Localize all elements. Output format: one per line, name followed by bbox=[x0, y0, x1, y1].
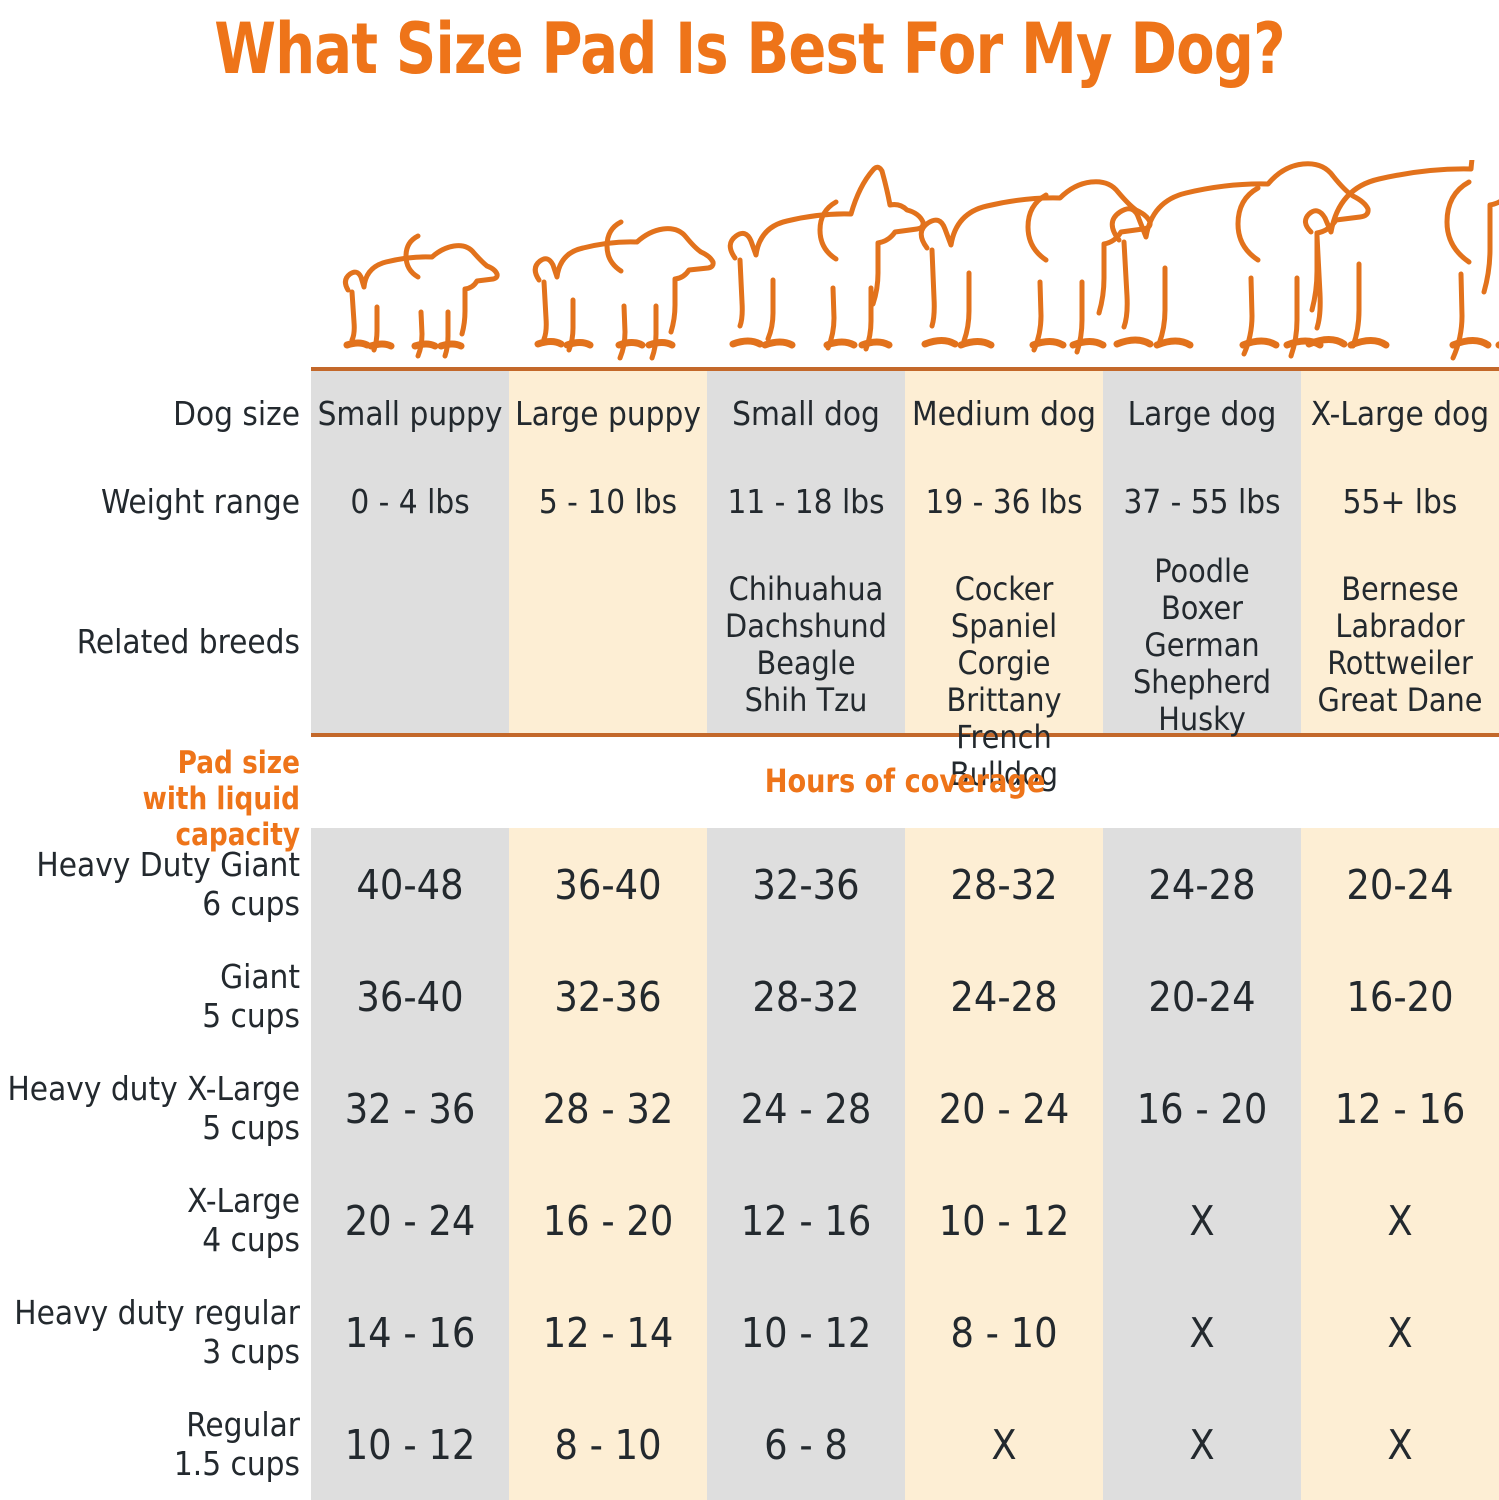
coverage-cell-heavy-duty-giant-large-puppy: 36-40 bbox=[509, 861, 707, 909]
column-band-lower-large-puppy bbox=[509, 828, 707, 1500]
coverage-cell-x-large-large-dog: X bbox=[1103, 1197, 1301, 1245]
pad-row-label-giant: Giant5 cups bbox=[0, 957, 300, 1035]
coverage-cell-regular-large-puppy: 8 - 10 bbox=[509, 1421, 707, 1469]
breed-name: Great Dane bbox=[1301, 682, 1499, 719]
coverage-cell-giant-medium-dog: 24-28 bbox=[905, 973, 1103, 1021]
pad-row-name: Giant bbox=[0, 957, 300, 996]
coverage-cell-heavy-duty-x-large-large-dog: 16 - 20 bbox=[1103, 1085, 1301, 1133]
breed-name: Poodle bbox=[1103, 553, 1301, 590]
pad-row-capacity: 1.5 cups bbox=[0, 1444, 300, 1483]
breed-name: Shih Tzu bbox=[707, 682, 905, 719]
coverage-cell-regular-medium-dog: X bbox=[905, 1421, 1103, 1469]
large-puppy-icon bbox=[535, 222, 713, 358]
breed-name: Cocker Spaniel bbox=[905, 571, 1103, 645]
column-band-lower-small-dog bbox=[707, 828, 905, 1500]
dog-size-cell-large-puppy: Large puppy bbox=[509, 394, 707, 433]
pad-row-label-heavy-duty-regular: Heavy duty regular3 cups bbox=[0, 1293, 300, 1371]
row-label-dog-size: Dog size bbox=[0, 394, 300, 433]
dog-size-cell-x-large-dog: X-Large dog bbox=[1301, 394, 1499, 433]
small-puppy-icon bbox=[345, 236, 497, 356]
pad-row-name: Regular bbox=[0, 1405, 300, 1444]
breeds-cell-x-large-dog: BerneseLabradorRottweilerGreat Dane bbox=[1301, 571, 1499, 719]
coverage-cell-x-large-large-puppy: 16 - 20 bbox=[509, 1197, 707, 1245]
column-band-lower-large-dog bbox=[1103, 828, 1301, 1500]
breed-name: Shepherd bbox=[1103, 664, 1301, 701]
column-band-lower-x-large-dog bbox=[1301, 828, 1499, 1500]
column-band-lower-small-puppy bbox=[311, 828, 509, 1500]
breeds-cell-medium-dog: Cocker SpanielCorgieBrittanyFrench Bulld… bbox=[905, 571, 1103, 793]
dog-size-cell-small-dog: Small dog bbox=[707, 394, 905, 433]
dog-size-cell-medium-dog: Medium dog bbox=[905, 394, 1103, 433]
hours-of-coverage-heading: Hours of coverage bbox=[400, 762, 1410, 800]
breed-name: Labrador bbox=[1301, 608, 1499, 645]
weight-range-cell-x-large-dog: 55+ lbs bbox=[1301, 482, 1499, 521]
weight-range-cell-medium-dog: 19 - 36 lbs bbox=[905, 482, 1103, 521]
row-label-weight-range: Weight range bbox=[0, 482, 300, 521]
pad-row-capacity: 5 cups bbox=[0, 996, 300, 1035]
coverage-cell-regular-small-puppy: 10 - 12 bbox=[311, 1421, 509, 1469]
breeds-cell-small-dog: ChihuahuaDachshundBeagleShih Tzu bbox=[707, 571, 905, 719]
pad-row-capacity: 3 cups bbox=[0, 1332, 300, 1371]
breed-name: Dachshund bbox=[707, 608, 905, 645]
coverage-cell-x-large-small-puppy: 20 - 24 bbox=[311, 1197, 509, 1245]
coverage-cell-heavy-duty-x-large-small-puppy: 32 - 36 bbox=[311, 1085, 509, 1133]
coverage-cell-giant-x-large-dog: 16-20 bbox=[1301, 973, 1499, 1021]
pad-row-capacity: 4 cups bbox=[0, 1220, 300, 1259]
pad-row-name: Heavy Duty Giant bbox=[0, 845, 300, 884]
pad-row-capacity: 5 cups bbox=[0, 1108, 300, 1147]
coverage-cell-giant-large-dog: 20-24 bbox=[1103, 973, 1301, 1021]
coverage-cell-heavy-duty-regular-x-large-dog: X bbox=[1301, 1309, 1499, 1357]
large-dog-icon bbox=[1112, 164, 1368, 356]
medium-dog-icon bbox=[921, 182, 1150, 352]
coverage-cell-regular-large-dog: X bbox=[1103, 1421, 1301, 1469]
pad-row-name: Heavy duty X-Large bbox=[0, 1069, 300, 1108]
dog-size-cell-small-puppy: Small puppy bbox=[311, 394, 509, 433]
breed-name: Corgie bbox=[905, 645, 1103, 682]
coverage-cell-heavy-duty-regular-small-puppy: 14 - 16 bbox=[311, 1309, 509, 1357]
coverage-cell-heavy-duty-x-large-medium-dog: 20 - 24 bbox=[905, 1085, 1103, 1133]
coverage-cell-heavy-duty-giant-large-dog: 24-28 bbox=[1103, 861, 1301, 909]
coverage-cell-x-large-medium-dog: 10 - 12 bbox=[905, 1197, 1103, 1245]
coverage-cell-x-large-small-dog: 12 - 16 bbox=[707, 1197, 905, 1245]
coverage-cell-heavy-duty-giant-x-large-dog: 20-24 bbox=[1301, 861, 1499, 909]
breed-name: Chihuahua bbox=[707, 571, 905, 608]
dog-illustration-strip bbox=[311, 160, 1499, 370]
coverage-cell-heavy-duty-regular-large-dog: X bbox=[1103, 1309, 1301, 1357]
coverage-cell-heavy-duty-regular-large-puppy: 12 - 14 bbox=[509, 1309, 707, 1357]
breed-name: Boxer bbox=[1103, 590, 1301, 627]
column-band-lower-medium-dog bbox=[905, 828, 1103, 1500]
breed-name: German bbox=[1103, 627, 1301, 664]
weight-range-cell-large-dog: 37 - 55 lbs bbox=[1103, 482, 1301, 521]
pad-row-label-x-large: X-Large4 cups bbox=[0, 1181, 300, 1259]
breed-name: Bernese bbox=[1301, 571, 1499, 608]
weight-range-cell-small-puppy: 0 - 4 lbs bbox=[311, 482, 509, 521]
breed-name: Beagle bbox=[707, 645, 905, 682]
weight-range-cell-small-dog: 11 - 18 lbs bbox=[707, 482, 905, 521]
pad-row-name: Heavy duty regular bbox=[0, 1293, 300, 1332]
pad-size-heading-line1: Pad size bbox=[45, 745, 300, 781]
dog-size-cell-large-dog: Large dog bbox=[1103, 394, 1301, 433]
pad-size-heading: Pad size with liquid capacity bbox=[45, 745, 300, 853]
coverage-cell-giant-large-puppy: 32-36 bbox=[509, 973, 707, 1021]
coverage-cell-heavy-duty-giant-small-dog: 32-36 bbox=[707, 861, 905, 909]
coverage-cell-heavy-duty-regular-medium-dog: 8 - 10 bbox=[905, 1309, 1103, 1357]
coverage-cell-regular-small-dog: 6 - 8 bbox=[707, 1421, 905, 1469]
coverage-cell-heavy-duty-giant-medium-dog: 28-32 bbox=[905, 861, 1103, 909]
pad-row-capacity: 6 cups bbox=[0, 884, 300, 923]
weight-range-cell-large-puppy: 5 - 10 lbs bbox=[509, 482, 707, 521]
coverage-cell-giant-small-dog: 28-32 bbox=[707, 973, 905, 1021]
coverage-cell-heavy-duty-x-large-small-dog: 24 - 28 bbox=[707, 1085, 905, 1133]
breeds-cell-large-dog: PoodleBoxerGermanShepherdHusky bbox=[1103, 553, 1301, 738]
coverage-cell-heavy-duty-x-large-large-puppy: 28 - 32 bbox=[509, 1085, 707, 1133]
coverage-cell-heavy-duty-giant-small-puppy: 40-48 bbox=[311, 861, 509, 909]
small-dog-icon bbox=[730, 167, 923, 349]
coverage-cell-x-large-x-large-dog: X bbox=[1301, 1197, 1499, 1245]
pad-row-name: X-Large bbox=[0, 1181, 300, 1220]
coverage-cell-regular-x-large-dog: X bbox=[1301, 1421, 1499, 1469]
coverage-cell-heavy-duty-regular-small-dog: 10 - 12 bbox=[707, 1309, 905, 1357]
pad-row-label-regular: Regular1.5 cups bbox=[0, 1405, 300, 1483]
pad-size-heading-line2: with liquid capacity bbox=[45, 781, 300, 853]
breed-name: Brittany bbox=[905, 682, 1103, 719]
breed-name: Rottweiler bbox=[1301, 645, 1499, 682]
coverage-cell-heavy-duty-x-large-x-large-dog: 12 - 16 bbox=[1301, 1085, 1499, 1133]
coverage-cell-giant-small-puppy: 36-40 bbox=[311, 973, 509, 1021]
pad-row-label-heavy-duty-x-large: Heavy duty X-Large5 cups bbox=[0, 1069, 300, 1147]
row-label-related-breeds: Related breeds bbox=[0, 622, 300, 661]
page-title: What Size Pad Is Best For My Dog? bbox=[150, 6, 1349, 92]
xlarge-dog-icon bbox=[1305, 160, 1499, 360]
breed-name: Husky bbox=[1103, 701, 1301, 738]
divider-top bbox=[311, 367, 1499, 371]
pad-row-label-heavy-duty-giant: Heavy Duty Giant6 cups bbox=[0, 845, 300, 923]
